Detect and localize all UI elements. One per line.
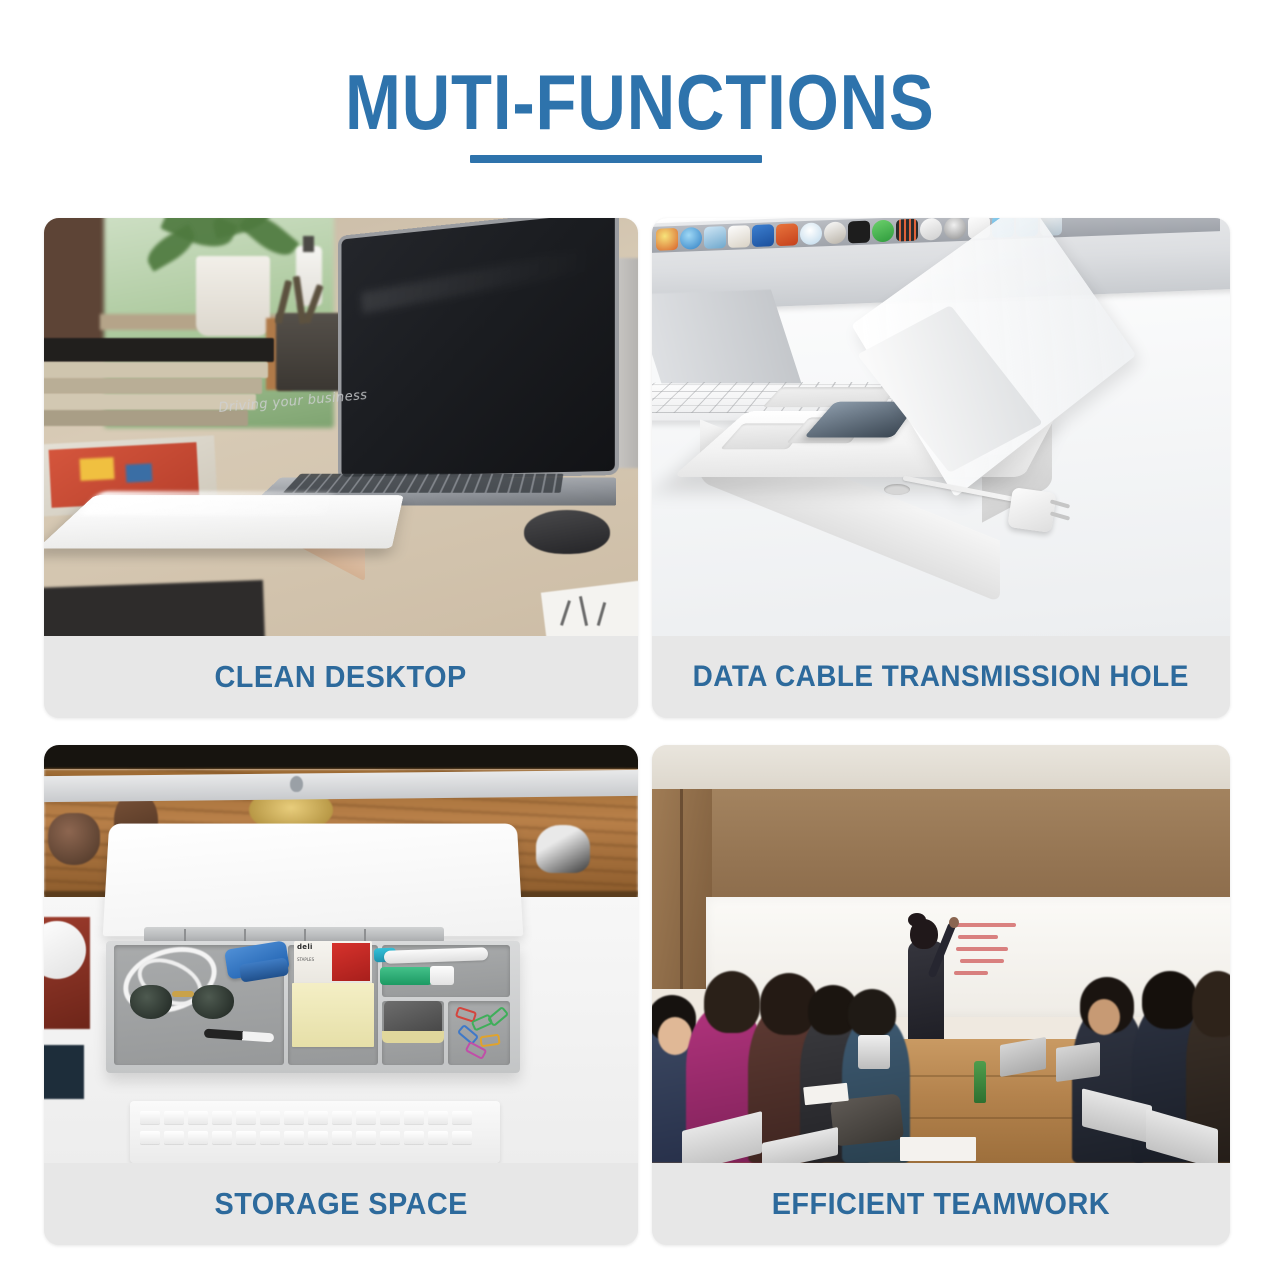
hinge-pin [184, 929, 186, 941]
key [332, 1131, 352, 1144]
photo-storage-space: deli STAPLES [44, 745, 638, 1163]
shelf-figurine-cat [536, 825, 590, 873]
document [900, 1137, 976, 1161]
key [452, 1111, 472, 1124]
dock-icon-display[interactable] [704, 226, 726, 249]
glue-stick-cap [430, 966, 454, 985]
book [44, 362, 268, 378]
pen-holder [276, 313, 342, 391]
key [164, 1131, 184, 1144]
book [44, 410, 248, 426]
key [284, 1111, 304, 1124]
key [236, 1111, 256, 1124]
feature-card-efficient-teamwork[interactable]: EFFICIENT TEAMWORK [652, 745, 1230, 1245]
spray-bottle-cap [303, 236, 314, 252]
key [140, 1131, 160, 1144]
power-adapter [1007, 487, 1056, 533]
whiteboard-writing [952, 923, 1016, 927]
hinge-pin [244, 929, 246, 941]
dock-icon-powerpoint[interactable] [776, 223, 798, 246]
key [308, 1111, 328, 1124]
whiteboard-eraser-base [382, 1031, 444, 1043]
title-underline-bar [470, 155, 762, 163]
drink-bottle [974, 1061, 986, 1103]
door-frame-line [680, 789, 683, 989]
laptop [1056, 1042, 1100, 1082]
wall-panel [44, 218, 110, 358]
desk-mat [44, 580, 265, 636]
dock-icon-settings[interactable] [944, 218, 966, 240]
hinge-pin [364, 929, 366, 941]
key [404, 1111, 424, 1124]
attendee-hair [704, 971, 760, 1033]
dock-icon-brush[interactable] [920, 218, 942, 241]
keyboard-row [140, 1131, 472, 1144]
key [260, 1111, 280, 1124]
photo-data-cable-hole [652, 218, 1230, 636]
dock-icon-lightroom[interactable] [848, 221, 870, 244]
key [428, 1131, 448, 1144]
shelf-figurine [48, 813, 100, 865]
key [188, 1131, 208, 1144]
key [140, 1111, 160, 1124]
magazine-artwork [79, 457, 114, 481]
key [212, 1111, 232, 1124]
page-title: MUTI-FUNCTIONS [345, 62, 935, 142]
feature-card-clean-desktop[interactable]: Driving your business CLEAN DESKTOP [44, 218, 638, 718]
caption-data-cable-hole: DATA CABLE TRANSMISSION HOLE [652, 636, 1230, 718]
apple-logo-icon [290, 776, 303, 792]
cable-transmission-hole [884, 484, 910, 495]
dock-icon-browser[interactable] [680, 227, 702, 250]
photo-efficient-teamwork [652, 745, 1230, 1163]
dock-icon-finder[interactable] [656, 228, 678, 251]
attendee-hair [1142, 971, 1198, 1029]
whiteboard-writing [960, 959, 1004, 963]
feature-grid: Driving your business CLEAN DESKTOP [0, 218, 1280, 1248]
desk-pad [44, 1045, 84, 1099]
caption-clean-desktop: CLEAN DESKTOP [44, 636, 638, 718]
caption-label: DATA CABLE TRANSMISSION HOLE [693, 660, 1189, 694]
staples-box-label: STAPLES [297, 957, 314, 962]
upper-wall [652, 789, 1230, 899]
photo-clean-desktop: Driving your business [44, 218, 638, 636]
sticky-notes [292, 983, 374, 1047]
caption-efficient-teamwork: EFFICIENT TEAMWORK [652, 1163, 1230, 1245]
key [236, 1131, 256, 1144]
book-stack-top [44, 338, 274, 362]
whiteboard-writing [958, 935, 998, 939]
dock-icon-messages[interactable] [872, 220, 894, 243]
whiteboard-writing [954, 971, 988, 975]
dock-icon-paint[interactable] [728, 225, 750, 248]
hinge-pin [304, 929, 306, 941]
dock-icon-video[interactable] [824, 221, 846, 244]
key [404, 1131, 424, 1144]
storage-tray-glare [78, 491, 334, 515]
apple-keyboard [130, 1101, 500, 1163]
key [380, 1111, 400, 1124]
caption-label: EFFICIENT TEAMWORK [772, 1186, 1110, 1222]
feature-card-storage-space[interactable]: deli STAPLES [44, 745, 638, 1245]
caption-label: CLEAN DESKTOP [215, 659, 467, 695]
tray-lid-open [103, 824, 524, 937]
caption-label: STORAGE SPACE [214, 1186, 467, 1222]
key [188, 1111, 208, 1124]
whiteboard-writing [956, 947, 1008, 951]
key [428, 1111, 448, 1124]
laptop-keyboard [283, 474, 563, 493]
ceiling [652, 745, 1230, 793]
key [164, 1111, 184, 1124]
key [356, 1131, 376, 1144]
glue-stick [380, 967, 432, 985]
dock-icon-plus[interactable] [800, 222, 822, 245]
key [284, 1131, 304, 1144]
page-header: MUTI-FUNCTIONS [0, 62, 1280, 142]
key [356, 1111, 376, 1124]
sunglasses-lens [192, 985, 234, 1019]
presenter-hand [949, 917, 959, 928]
background-shadow [44, 745, 638, 769]
feature-card-data-cable-hole[interactable]: DATA CABLE TRANSMISSION HOLE [652, 218, 1230, 718]
presenter-hair-bun [908, 913, 926, 927]
plant-pot [196, 256, 270, 336]
key [332, 1111, 352, 1124]
staples-box-brand: deli [297, 943, 313, 951]
caption-storage-space: STORAGE SPACE [44, 1163, 638, 1245]
thermos [858, 1035, 890, 1069]
key [452, 1131, 472, 1144]
staples-box-red-panel [332, 943, 370, 981]
sunglasses-lens [130, 985, 172, 1019]
dock-icon-word[interactable] [752, 224, 774, 247]
computer-mouse [524, 510, 610, 554]
attendee-head [1088, 999, 1120, 1035]
key [308, 1131, 328, 1144]
book [44, 378, 262, 394]
magazine-artwork [126, 463, 153, 482]
laptop-screen [341, 218, 614, 477]
screen-glare [361, 247, 591, 313]
key [212, 1131, 232, 1144]
dock-icon-grid[interactable] [896, 219, 918, 242]
attendee-hair [848, 989, 896, 1037]
key [260, 1131, 280, 1144]
keyboard-row [140, 1111, 472, 1124]
key [380, 1131, 400, 1144]
sunglasses-bridge [172, 991, 194, 997]
paper-sheet [541, 576, 638, 636]
